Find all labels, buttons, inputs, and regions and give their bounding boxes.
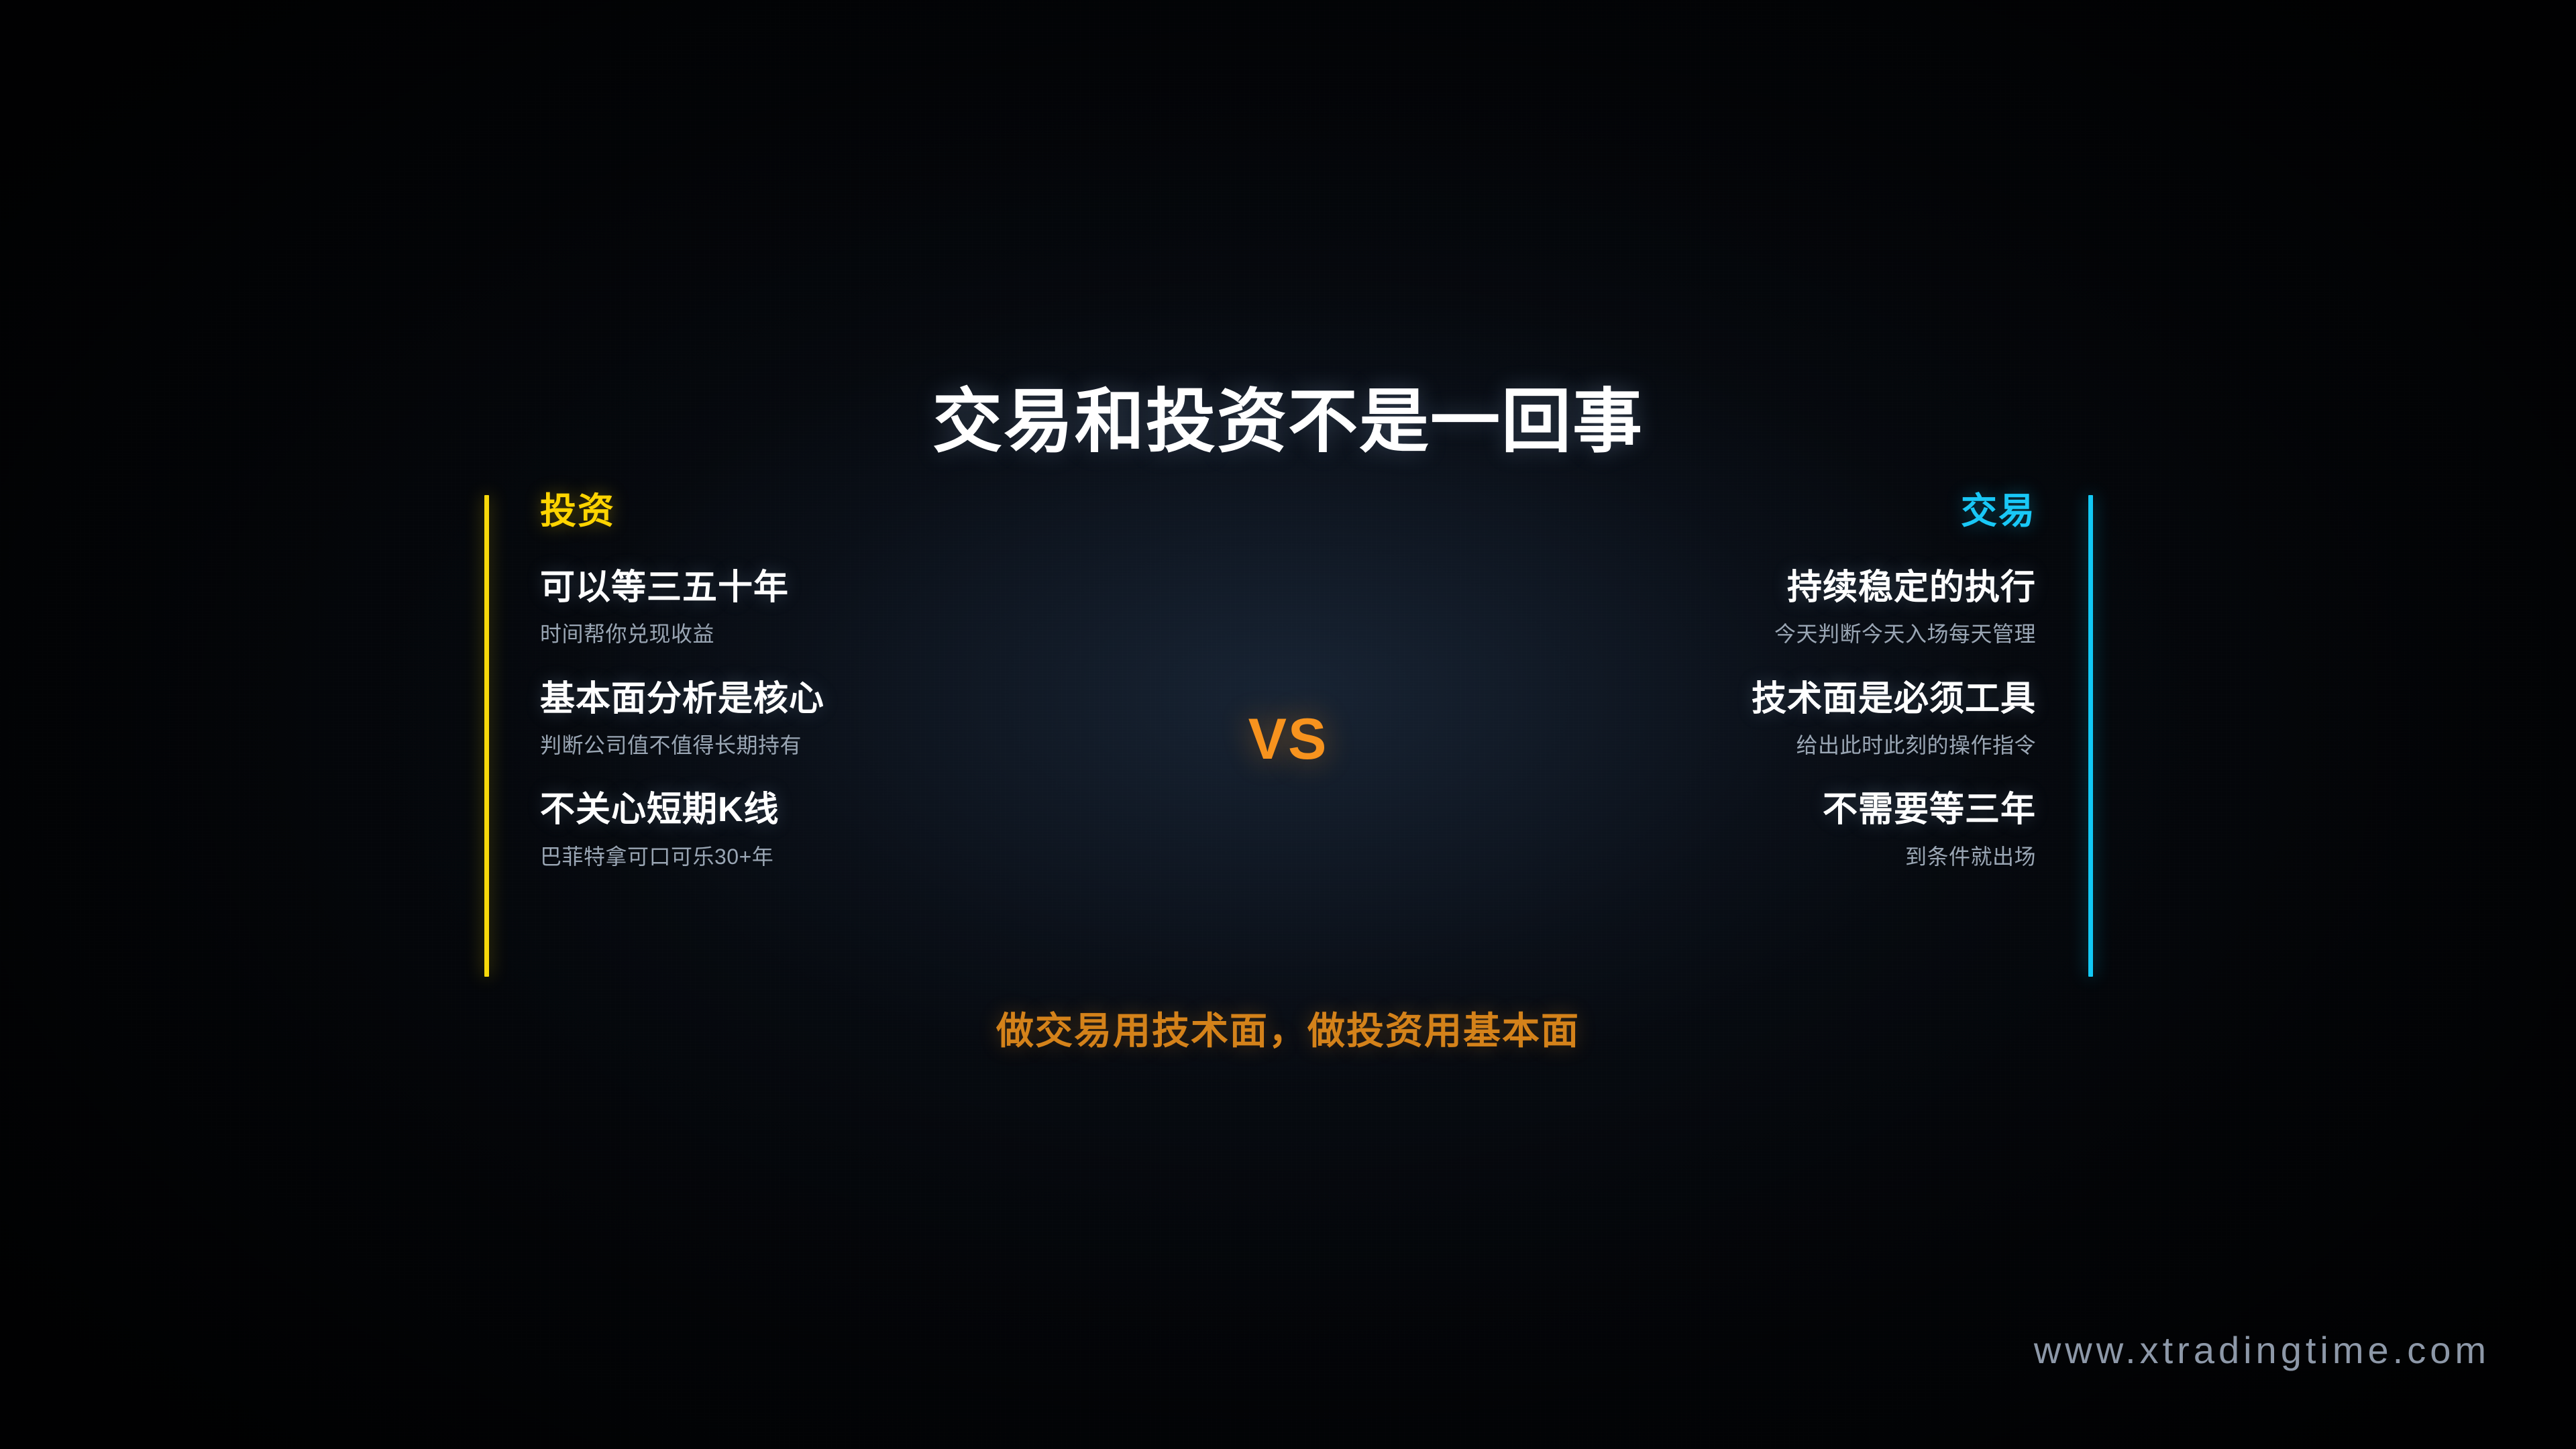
item-title: 持续稳定的执行	[1529, 568, 2036, 608]
investing-column: 投资 可以等三五十年 时间帮你兑现收益 基本面分析是核心 判断公司值不值得长期持…	[486, 493, 1036, 869]
item-title: 不关心短期K线	[540, 790, 1036, 830]
trading-column: 交易 持续稳定的执行 今天判断今天入场每天管理 技术面是必须工具 给出此时此刻的…	[1529, 493, 2090, 869]
trading-column-heading: 交易	[1529, 493, 2090, 529]
item-subtitle: 巴菲特拿可口可乐30+年	[540, 844, 1036, 869]
site-watermark: www.xtradingtime.com	[2034, 1328, 2490, 1372]
item-subtitle: 时间帮你兑现收益	[540, 621, 1036, 647]
investing-column-heading: 投资	[486, 493, 1036, 529]
item-title: 可以等三五十年	[540, 568, 1036, 608]
slide-canvas: 交易和投资不是一回事 投资 可以等三五十年 时间帮你兑现收益 基本面分析是核心 …	[0, 0, 2576, 1449]
versus-label: VS	[0, 706, 2576, 773]
page-title: 交易和投资不是一回事	[0, 381, 2576, 464]
item-title: 不需要等三年	[1529, 790, 2036, 830]
item-subtitle: 今天判断今天入场每天管理	[1529, 621, 2036, 647]
item-subtitle: 到条件就出场	[1529, 844, 2036, 869]
list-item: 不关心短期K线 巴菲特拿可口可乐30+年	[486, 790, 1036, 869]
tagline: 做交易用技术面，做投资用基本面	[0, 1001, 2576, 1055]
list-item: 可以等三五十年 时间帮你兑现收益	[486, 568, 1036, 647]
list-item: 持续稳定的执行 今天判断今天入场每天管理	[1529, 568, 2090, 647]
list-item: 不需要等三年 到条件就出场	[1529, 790, 2090, 869]
